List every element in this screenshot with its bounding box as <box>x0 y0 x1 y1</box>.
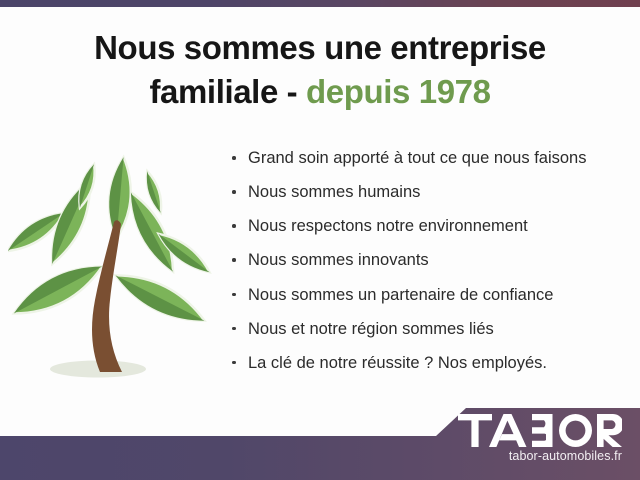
bullet-dot-icon <box>232 224 236 228</box>
bullet-dot-icon <box>232 327 236 331</box>
bullet-dot-icon <box>232 258 236 262</box>
bullet-dot-icon <box>232 293 236 297</box>
benefits-list: Grand soin apporté à tout ce que nous fa… <box>228 148 628 387</box>
headline-line-2: familiale - depuis 1978 <box>16 70 624 114</box>
list-item: Nous sommes innovants <box>228 250 628 271</box>
footer-bar-shape <box>0 404 640 480</box>
headline-line-1: Nous sommes une entreprise <box>94 29 546 66</box>
tree-illustration <box>8 150 218 390</box>
list-item-label: Grand soin apporté à tout ce que nous fa… <box>248 149 586 167</box>
list-item-label: Nous sommes innovants <box>248 251 429 269</box>
list-item: Nous sommes un partenaire de confiance <box>228 285 628 306</box>
list-item-label: Nous respectons notre environnement <box>248 217 528 235</box>
list-item: Nous sommes humains <box>228 182 628 203</box>
list-item-label: Nous sommes un partenaire de confiance <box>248 286 553 304</box>
list-item: Grand soin apporté à tout ce que nous fa… <box>228 148 628 169</box>
headline-accent-year: depuis 1978 <box>306 73 491 110</box>
list-item: Nous et notre région sommes liés <box>228 319 628 340</box>
list-item-label: Nous sommes humains <box>248 183 420 201</box>
tree-trunk-icon <box>92 220 122 372</box>
top-accent-strip <box>0 0 640 7</box>
footer-bar <box>0 404 640 480</box>
page-title: Nous sommes une entreprise familiale - d… <box>0 26 640 113</box>
leaf-icon <box>110 264 210 332</box>
list-item-label: Nous et notre région sommes liés <box>248 320 494 338</box>
bullet-dot-icon <box>232 156 236 160</box>
bullet-dot-icon <box>232 190 236 194</box>
slide-canvas: Nous sommes une entreprise familiale - d… <box>0 0 640 480</box>
bullet-dot-icon <box>232 361 236 365</box>
list-item-label: La clé de notre réussite ? Nos employés. <box>248 354 547 372</box>
tree-illustration-svg <box>8 150 218 390</box>
list-item: Nous respectons notre environnement <box>228 216 628 237</box>
list-item: La clé de notre réussite ? Nos employés. <box>228 353 628 374</box>
headline-line-2-main: familiale - <box>149 73 306 110</box>
